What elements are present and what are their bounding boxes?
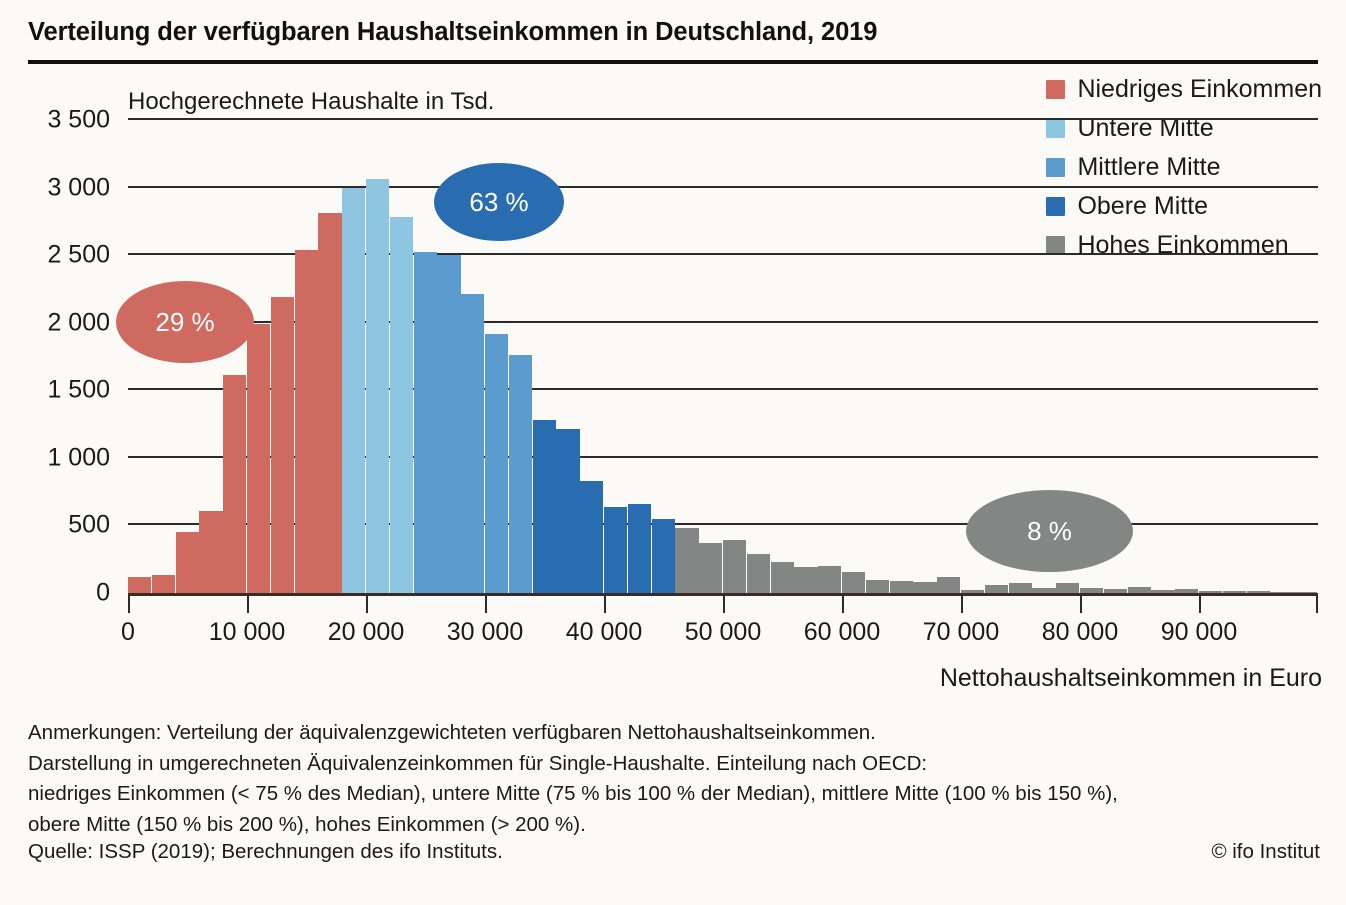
x-tick-mark — [128, 596, 130, 613]
histogram-bar — [580, 481, 603, 593]
x-tick-label: 50 000 — [685, 618, 761, 647]
title-divider — [28, 60, 1318, 64]
histogram-bar — [604, 507, 627, 593]
x-tick-mark — [1080, 596, 1082, 613]
x-tick-mark — [485, 596, 487, 613]
legend-item-label: Niedriges Einkommen — [1077, 77, 1322, 102]
y-tick-label: 1 500 — [0, 376, 110, 405]
histogram-bar — [794, 567, 817, 593]
histogram-bar — [890, 581, 913, 593]
x-tick-label: 40 000 — [566, 618, 642, 647]
note-line: Anmerkungen: Verteilung der äquivalenzge… — [28, 718, 1320, 749]
note-line: Darstellung in umgerechneten Äquivalenze… — [28, 749, 1320, 780]
y-axis-label: Hochgerechnete Haushalte in Tsd. — [128, 88, 494, 116]
histogram-bar — [247, 324, 270, 593]
histogram-bar — [985, 585, 1008, 593]
plot-area — [128, 120, 1318, 596]
note-line: niedriges Einkommen (< 75 % des Median),… — [28, 779, 1320, 810]
x-tick-mark — [961, 596, 963, 613]
y-tick-label: 2 500 — [0, 241, 110, 270]
histogram-bar — [485, 334, 508, 593]
histogram-bar — [866, 580, 889, 593]
x-tick-mark — [247, 596, 249, 613]
histogram-bar — [937, 577, 960, 593]
histogram-bar — [128, 577, 151, 593]
histogram-bar — [318, 213, 341, 593]
histogram-bar — [1056, 583, 1079, 593]
histogram-bar — [414, 252, 437, 593]
histogram-bar — [533, 420, 556, 593]
x-tick-label: 60 000 — [804, 618, 880, 647]
histogram-bar — [842, 572, 865, 593]
page-title: Verteilung der verfügbaren Haushaltseink… — [28, 18, 877, 47]
x-tick-mark — [1199, 596, 1201, 613]
y-tick-label: 2 000 — [0, 308, 110, 337]
y-tick-label: 1 000 — [0, 443, 110, 472]
histogram-bar — [295, 250, 318, 593]
x-tick-label: 10 000 — [209, 618, 285, 647]
source-text: Quelle: ISSP (2019); Berechnungen des if… — [28, 840, 503, 864]
low-income-share: 29 % — [116, 281, 254, 363]
x-tick-label: 70 000 — [923, 618, 999, 647]
histogram-bar — [437, 255, 460, 593]
histogram-bar — [199, 511, 222, 593]
histogram-bar — [628, 504, 651, 593]
histogram-bar — [271, 297, 294, 593]
x-axis-end-tick — [1316, 596, 1318, 613]
x-axis: 010 00020 00030 00040 00050 00060 00070 … — [128, 596, 1318, 656]
middle-share: 63 % — [434, 163, 564, 241]
legend-swatch-icon — [1046, 80, 1065, 99]
x-tick-label: 30 000 — [447, 618, 523, 647]
histogram-bar — [556, 429, 579, 593]
chart-page: Verteilung der verfügbaren Haushaltseink… — [0, 0, 1346, 905]
histogram-bar — [176, 532, 199, 593]
histogram-bar — [747, 554, 770, 593]
histogram-bar — [509, 355, 532, 593]
source-row: Quelle: ISSP (2019); Berechnungen des if… — [28, 840, 1320, 864]
note-line: obere Mitte (150 % bis 200 %), hohes Ein… — [28, 810, 1320, 841]
x-tick-mark — [604, 596, 606, 613]
histogram-bar — [699, 543, 722, 593]
x-tick-mark — [723, 596, 725, 613]
legend-item: Niedriges Einkommen — [1046, 70, 1322, 109]
x-tick-label: 0 — [121, 618, 135, 647]
x-tick-label: 80 000 — [1042, 618, 1118, 647]
y-axis-ticks: 05001 0001 5002 0002 5003 0003 500 — [0, 120, 110, 596]
y-tick-label: 500 — [0, 511, 110, 540]
histogram-bar — [342, 188, 365, 593]
high-income-share: 8 % — [966, 490, 1133, 572]
chart-notes: Anmerkungen: Verteilung der äquivalenzge… — [28, 718, 1320, 840]
x-tick-label: 90 000 — [1161, 618, 1237, 647]
histogram-bar — [723, 540, 746, 593]
x-tick-label: 20 000 — [328, 618, 404, 647]
x-axis-title: Nettohaushaltseinkommen in Euro — [940, 664, 1322, 693]
histogram-bar — [223, 375, 246, 593]
y-tick-label: 3 500 — [0, 106, 110, 135]
histogram-bar — [152, 575, 175, 593]
x-tick-mark — [366, 596, 368, 613]
histogram-bars — [128, 120, 1318, 593]
histogram-bar — [913, 582, 936, 593]
histogram-bar — [771, 562, 794, 593]
y-tick-label: 0 — [0, 579, 110, 608]
copyright-text: © ifo Institut — [1211, 840, 1320, 864]
x-tick-mark — [842, 596, 844, 613]
histogram-bar — [652, 519, 675, 593]
histogram-bar — [1009, 583, 1032, 593]
histogram-bar — [675, 528, 698, 593]
y-tick-label: 3 000 — [0, 173, 110, 202]
histogram-bar — [818, 566, 841, 593]
histogram-bar — [366, 179, 389, 593]
histogram-bar — [461, 294, 484, 593]
histogram-bar — [390, 217, 413, 593]
